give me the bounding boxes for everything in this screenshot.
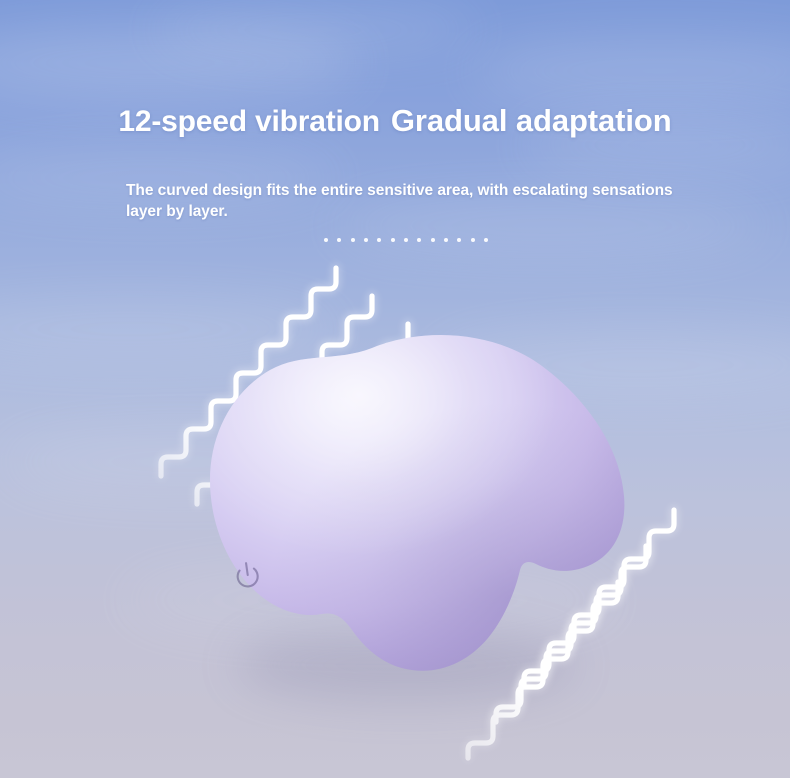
divider-dot [364,238,368,242]
divider-dot [444,238,448,242]
headline: 12-speed vibrationGradual adaptation [0,103,790,139]
headline-primary: 12-speed vibration [118,105,379,138]
dotted-divider [324,237,488,243]
product-banner: 12-speed vibrationGradual adaptation The… [0,0,790,778]
power-icon[interactable] [231,558,265,596]
divider-dot [337,238,341,242]
product-body [210,335,624,671]
cloud-wisp [150,6,480,54]
divider-dot [377,238,381,242]
divider-dot [431,238,435,242]
divider-dot [391,238,395,242]
divider-dot [404,238,408,242]
divider-dot [324,238,328,242]
cloud-wisp [470,40,790,102]
cloud-wisp [0,28,360,98]
divider-dot [417,238,421,242]
divider-dot [471,238,475,242]
headline-secondary: Gradual adaptation [391,103,672,138]
product-image [196,330,642,702]
subheadline: The curved design fits the entire sensit… [126,180,698,223]
divider-dot [484,238,488,242]
divider-dot [351,238,355,242]
divider-dot [457,238,461,242]
